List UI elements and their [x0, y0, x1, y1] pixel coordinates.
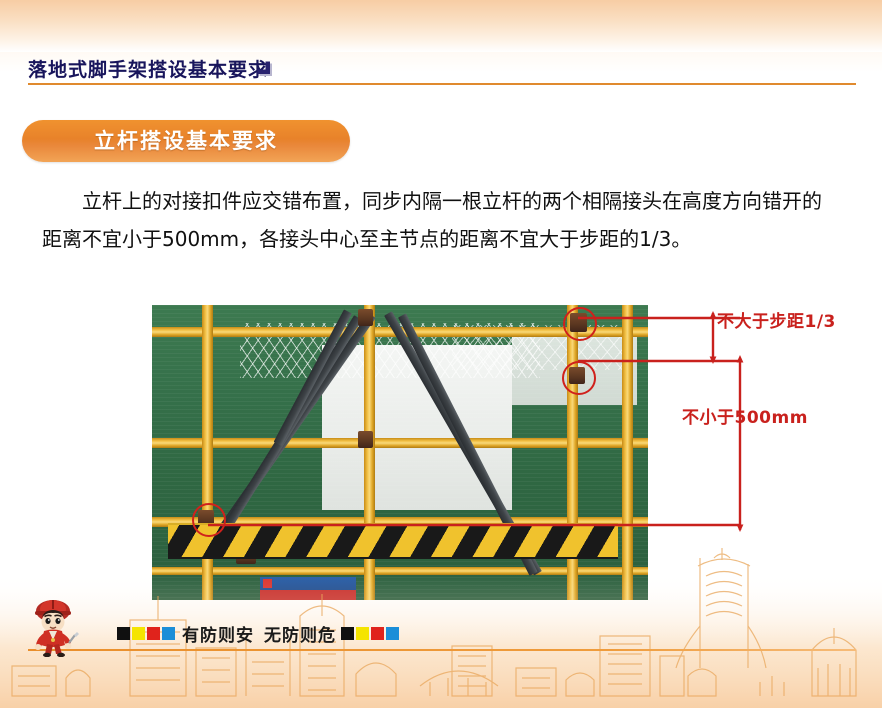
footer-slogan: 有防则安 无防则危 [117, 622, 401, 644]
annotation-label-bottom: 不小于500mm [682, 403, 808, 428]
section-badge-label: 立杆搭设基本要求 [22, 120, 350, 162]
city-skyline-graphic [0, 518, 882, 708]
coupler-mid-left [358, 431, 373, 448]
slogan-text-right: 无防则危 [264, 621, 336, 646]
footer-divider [28, 649, 856, 651]
top-gradient-band [0, 0, 882, 52]
annotation-label-top: 不大于步距1/3 [717, 307, 836, 332]
swatch-black-right [341, 627, 354, 640]
arrow-down-right-icon [250, 54, 276, 80]
construction-worker-mascot-icon [22, 597, 84, 657]
swatch-black-left [117, 627, 130, 640]
body-paragraph: 立杆上的对接扣件应交错布置，同步内隔一根立杆的两个相隔接头在高度方向错开的距离不… [42, 182, 822, 258]
swatch-red-right [371, 627, 384, 640]
swatch-red-left [147, 627, 160, 640]
highlight-circle-middle [562, 361, 596, 395]
swatch-yellow-right [356, 627, 369, 640]
page-title: 落地式脚手架搭设基本要求 [28, 55, 268, 82]
coupler-top-center [358, 309, 373, 326]
swatch-blue-left [162, 627, 175, 640]
swatch-yellow-left [132, 627, 145, 640]
swatch-blue-right [386, 627, 399, 640]
header-divider [28, 83, 856, 85]
slogan-text-left: 有防则安 [182, 621, 254, 646]
highlight-circle-upper [563, 307, 597, 341]
slide-page: 落地式脚手架搭设基本要求 立杆搭设基本要求 立杆上的对接扣件应交错布置，同步内隔… [0, 0, 882, 708]
section-badge: 立杆搭设基本要求 [22, 120, 350, 162]
page-header: 落地式脚手架搭设基本要求 [0, 55, 882, 93]
